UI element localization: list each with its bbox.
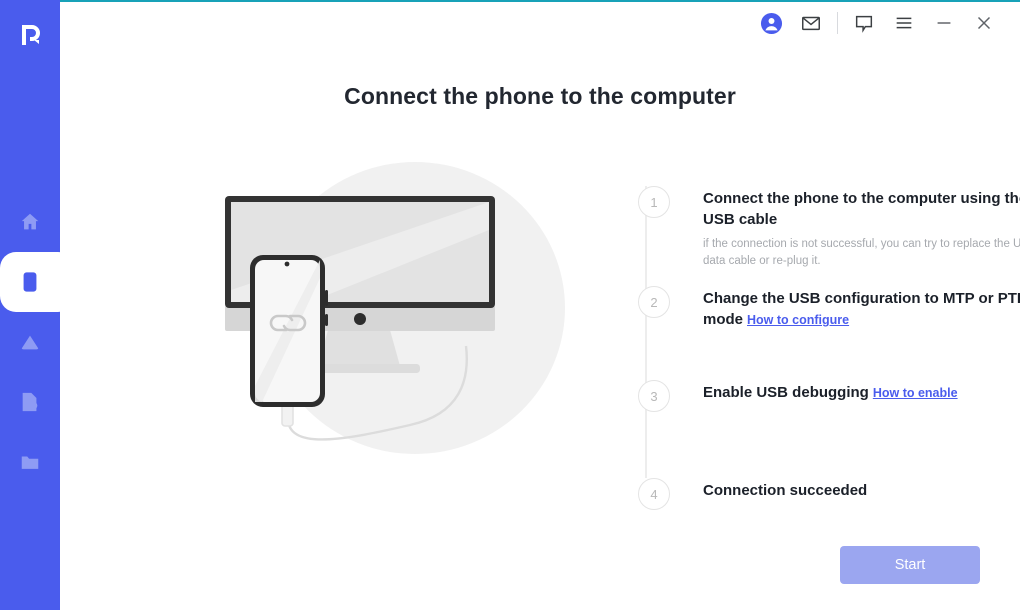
menu-icon[interactable] [884, 3, 924, 43]
step-item: 3 Enable USB debuggingHow to enable [638, 380, 1020, 478]
how-to-configure-link[interactable]: How to configure [747, 313, 849, 327]
step-number: 3 [638, 380, 670, 412]
monitor-stand-neck [318, 330, 400, 366]
header-divider [837, 12, 838, 34]
how-to-enable-link[interactable]: How to enable [873, 386, 958, 400]
start-button[interactable]: Start [840, 546, 980, 584]
sidebar [0, 0, 60, 610]
step-title-text: Enable USB debugging [703, 384, 869, 401]
step-title: Connect the phone to the computer using … [703, 188, 1020, 231]
phone-icon [19, 271, 41, 293]
steps-list: 1 Connect the phone to the computer usin… [638, 186, 1020, 510]
phone-camera [285, 262, 290, 267]
window-header [60, 0, 1020, 46]
file-info-icon [19, 391, 41, 413]
step-item: 2 Change the USB configuration to MTP or… [638, 286, 1020, 380]
mail-icon[interactable] [791, 3, 831, 43]
sidebar-item-transfer[interactable] [0, 372, 60, 432]
sidebar-item-backup[interactable] [0, 312, 60, 372]
step-number: 1 [638, 186, 670, 218]
monitor-logo-dot [354, 313, 366, 325]
application-window: Connect the phone to the computer [0, 0, 1020, 610]
sidebar-item-home[interactable] [0, 192, 60, 252]
cloud-drive-icon [19, 331, 41, 353]
step-title: Enable USB debuggingHow to enable [703, 382, 958, 403]
close-icon[interactable] [964, 3, 1004, 43]
phone-button-power [325, 314, 328, 326]
account-icon[interactable] [751, 3, 791, 43]
phone-button-volume [325, 290, 328, 306]
step-number: 2 [638, 286, 670, 318]
main-content: Connect the phone to the computer [60, 0, 1020, 610]
app-logo[interactable] [0, 4, 60, 64]
minimize-icon[interactable] [924, 3, 964, 43]
sidebar-item-phone[interactable] [0, 252, 60, 312]
home-icon [19, 211, 41, 233]
step-number: 4 [638, 478, 670, 510]
illustration-phone-connected-to-monitor [170, 150, 570, 470]
step-title: Connection succeeded [703, 480, 867, 501]
step-subtitle: if the connection is not successful, you… [703, 236, 1020, 272]
sidebar-nav [0, 192, 60, 492]
feedback-icon[interactable] [844, 3, 884, 43]
step-item: 4 Connection succeeded [638, 478, 1020, 510]
sidebar-item-files[interactable] [0, 432, 60, 492]
folder-icon [19, 451, 41, 473]
page-title: Connect the phone to the computer [60, 83, 1020, 110]
step-title: Change the USB configuration to MTP or P… [703, 288, 1020, 331]
step-item: 1 Connect the phone to the computer usin… [638, 186, 1020, 286]
